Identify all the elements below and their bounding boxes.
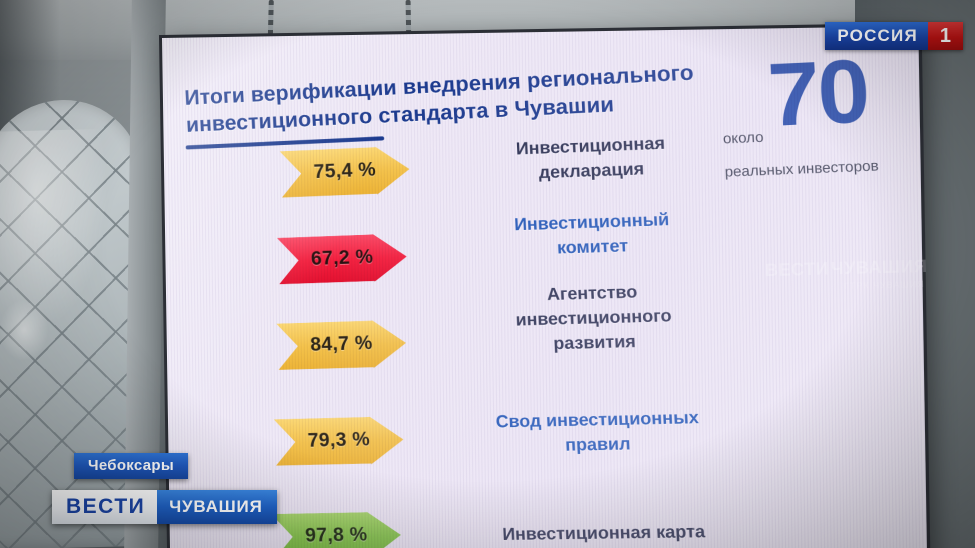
location-tag: Чебоксары <box>74 453 188 479</box>
percent-label: 84,7 % <box>310 333 373 357</box>
channel-logo-name: РОССИЯ <box>825 22 928 50</box>
led-presentation-screen: Итоги верификации внедрения региональног… <box>162 26 927 548</box>
percent-label: 75,4 % <box>313 159 376 184</box>
brand-main: ВЕСТИ <box>52 490 157 524</box>
metric-caption: Инвестиционная декларация <box>454 129 730 189</box>
metric-row: 84,7 % Агентство инвестиционного развити… <box>166 321 923 323</box>
broadcast-frame: Итоги верификации внедрения региональног… <box>0 0 975 548</box>
watermark-primary: ВЕСТИ <box>764 258 829 281</box>
metric-caption: Инвестиционная карта <box>446 519 764 548</box>
metric-row: 75,4 % Инвестиционная декларация <box>164 144 921 150</box>
percent-label: 97,8 % <box>305 524 368 547</box>
channel-watermark: ВЕСТИ ЧУВАШИЯ <box>764 256 927 281</box>
metric-row: 79,3 % Свод инвестиционных правил <box>168 416 925 423</box>
watermark-secondary: ЧУВАШИЯ <box>830 256 927 280</box>
percent-arrow: 79,3 % <box>274 416 405 466</box>
channel-logo: РОССИЯ 1 <box>825 22 963 50</box>
caption-line: правил <box>451 430 748 461</box>
metric-row: 67,2 % Инвестиционный комитет <box>165 234 922 236</box>
percent-arrow: 97,8 % <box>271 512 402 548</box>
percent-arrow: 84,7 % <box>276 320 407 370</box>
brand-region: ЧУВАШИЯ <box>157 490 276 524</box>
percent-label: 67,2 % <box>311 247 374 271</box>
percent-arrow: 67,2 % <box>277 233 408 284</box>
metric-caption: Свод инвестиционных правил <box>450 405 748 461</box>
ceiling-lamp-glow <box>0 300 48 360</box>
caption-line: Инвестиционная карта <box>446 519 764 548</box>
channel-logo-number: 1 <box>928 22 963 50</box>
metric-caption: Агентство инвестиционного развития <box>456 277 734 359</box>
program-brand-bug: ВЕСТИ ЧУВАШИЯ <box>52 490 277 524</box>
percent-arrow: 75,4 % <box>280 146 411 198</box>
metric-caption: Инвестиционный комитет <box>455 205 732 264</box>
metric-rows: 75,4 % Инвестиционная декларация 67,2 % … <box>162 26 927 548</box>
percent-label: 79,3 % <box>307 429 370 453</box>
metric-row: 97,8 % Инвестиционная карта <box>169 510 926 522</box>
watermark-sub: ГТРК ЧУВАШИЯ <box>844 279 925 291</box>
